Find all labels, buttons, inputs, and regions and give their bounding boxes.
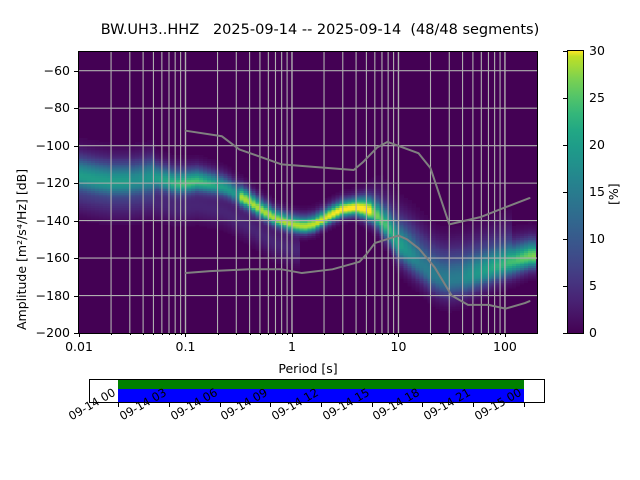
- x-axis-minor-tick: [488, 333, 489, 335]
- y-axis-tick: [74, 146, 78, 147]
- x-axis-minor-tick: [181, 333, 182, 335]
- x-axis-tick-label: 1: [262, 339, 322, 354]
- y-axis-tick: [74, 258, 78, 259]
- colorbar-tick: [563, 98, 567, 99]
- time-axis-tick: [524, 403, 525, 407]
- x-axis-minor-tick: [495, 333, 496, 335]
- x-axis-title: Period [s]: [78, 361, 538, 376]
- y-axis-tick: [74, 183, 78, 184]
- colorbar-tick: [563, 192, 567, 193]
- colorbar-tick: [563, 239, 567, 240]
- histogram-cells: [79, 138, 536, 313]
- x-axis-minor-tick: [382, 333, 383, 335]
- x-axis-tick: [398, 333, 399, 337]
- y-axis-tick: [74, 296, 78, 297]
- time-axis-tick: [321, 403, 322, 407]
- x-axis-minor-tick: [130, 333, 131, 335]
- x-axis-minor-tick: [356, 333, 357, 335]
- y-axis-tick-label: −80: [10, 100, 70, 115]
- x-axis-minor-tick: [343, 333, 344, 335]
- x-axis-minor-tick: [162, 333, 163, 335]
- colorbar-tick-label: 20: [589, 137, 605, 152]
- time-axis-tick: [270, 403, 271, 407]
- colorbar-tick: [563, 145, 567, 146]
- y-axis-tick: [74, 108, 78, 109]
- x-axis-minor-tick: [275, 333, 276, 335]
- x-axis-tick: [79, 333, 80, 337]
- colorbar-tick-label: 5: [589, 278, 597, 293]
- x-axis-minor-tick: [481, 333, 482, 335]
- colorbar-tick-label: 25: [589, 90, 605, 105]
- time-axis-tick: [118, 403, 119, 407]
- x-axis-minor-tick: [324, 333, 325, 335]
- x-axis-minor-tick: [473, 333, 474, 335]
- colorbar-tick-label: 0: [589, 325, 597, 340]
- x-axis-minor-tick: [143, 333, 144, 335]
- x-axis-minor-tick: [218, 333, 219, 335]
- x-axis-minor-tick: [153, 333, 154, 335]
- x-axis-minor-tick: [169, 333, 170, 335]
- x-axis-minor-tick: [500, 333, 501, 335]
- x-axis-minor-tick: [394, 333, 395, 335]
- x-axis-tick: [292, 333, 293, 337]
- x-axis-minor-tick: [287, 333, 288, 335]
- x-axis-minor-tick: [366, 333, 367, 335]
- ppsd-histogram-svg: [79, 52, 537, 333]
- colorbar-tick-label: 30: [589, 43, 605, 58]
- colorbar-tick-label: 10: [589, 231, 605, 246]
- time-axis-tick: [473, 403, 474, 407]
- colorbar-tick: [563, 286, 567, 287]
- y-axis-tick: [74, 71, 78, 72]
- x-axis-minor-tick: [268, 333, 269, 335]
- time-axis-tick: [220, 403, 221, 407]
- x-axis-tick-label: 100: [475, 339, 535, 354]
- colorbar-tick-label: 15: [589, 184, 605, 199]
- x-axis-tick-label: 10: [368, 339, 428, 354]
- x-axis-minor-tick: [175, 333, 176, 335]
- x-axis-minor-tick: [463, 333, 464, 335]
- y-axis-tick-label: −60: [10, 63, 70, 78]
- x-axis-tick: [185, 333, 186, 337]
- y-axis-tick: [74, 221, 78, 222]
- x-axis-tick-label: 0.1: [155, 339, 215, 354]
- x-axis-tick-label: 0.01: [49, 339, 109, 354]
- x-axis-minor-tick: [260, 333, 261, 335]
- x-axis-minor-tick: [236, 333, 237, 335]
- colorbar-title: [%]: [606, 205, 628, 220]
- colorbar-tick: [563, 51, 567, 52]
- colorbar-tick: [563, 333, 567, 334]
- y-axis-tick-label: −100: [10, 138, 70, 153]
- x-axis-minor-tick: [375, 333, 376, 335]
- page-title: BW.UH3..HHZ 2025-09-14 -- 2025-09-14 (48…: [0, 22, 640, 38]
- x-axis-minor-tick: [388, 333, 389, 335]
- ppsd-histogram-canvas: [79, 52, 537, 333]
- time-axis-tick: [372, 403, 373, 407]
- time-axis-tick: [169, 403, 170, 407]
- x-axis-minor-tick: [250, 333, 251, 335]
- colorbar: [567, 50, 584, 334]
- x-axis-minor-tick: [282, 333, 283, 335]
- ppsd-plot-axes: [78, 51, 538, 334]
- time-axis-tick: [422, 403, 423, 407]
- x-axis-tick: [505, 333, 506, 337]
- x-axis-minor-tick: [111, 333, 112, 335]
- x-axis-minor-tick: [431, 333, 432, 335]
- x-axis-minor-tick: [449, 333, 450, 335]
